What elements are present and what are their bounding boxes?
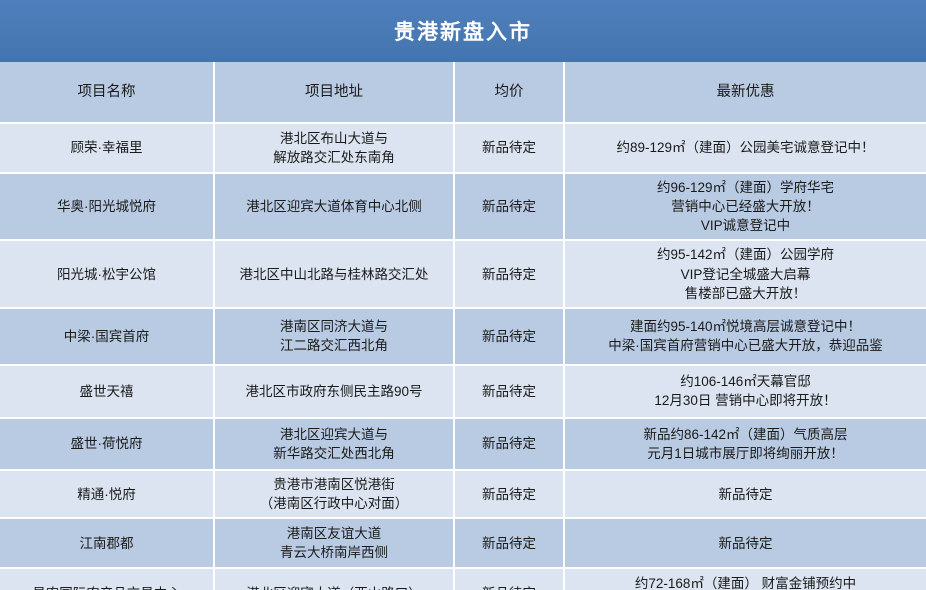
cell-price: 新品待定 <box>455 419 565 471</box>
cell-price: 新品待定 <box>455 241 565 308</box>
page-root: 贵 房 产 网 港 日 www.21998.cn www.21998.cn <box>0 0 926 590</box>
cell-price: 新品待定 <box>455 174 565 241</box>
table-container: 项目名称 项目地址 均价 最新优惠 顾荣·幸福里港北区布山大道与解放路交汇处东南… <box>0 62 926 590</box>
table-row: 华奥·阳光城悦府港北区迎宾大道体育中心北侧新品待定约96-129㎡（建面）学府华… <box>0 174 926 241</box>
cell-promo-line: 新品约86-142㎡（建面）气质高层 <box>571 425 920 444</box>
cell-addr-line: 港北区布山大道与 <box>221 129 447 148</box>
table-row: 中梁·国宾首府港南区同济大道与江二路交汇西北角新品待定建面约95-140㎡悦境高… <box>0 309 926 366</box>
table-header: 项目名称 项目地址 均价 最新优惠 <box>0 62 926 124</box>
cell-promo-line: 售楼部已盛大开放！ <box>571 284 920 303</box>
cell-name: 盛世天禧 <box>0 366 215 419</box>
table-header-row: 项目名称 项目地址 均价 最新优惠 <box>0 62 926 124</box>
cell-price: 新品待定 <box>455 569 565 590</box>
cell-name: 精通·悦府 <box>0 471 215 519</box>
page-title-text: 贵港新盘入市 <box>394 16 532 46</box>
cell-addr-line: 港北区迎宾大道体育中心北侧 <box>221 197 447 216</box>
cell-promo-line: 新品待定 <box>571 534 920 553</box>
cell-price: 新品待定 <box>455 366 565 419</box>
cell-promo-line: 12月30日 营销中心即将开放！ <box>571 391 920 410</box>
table-row: 精通·悦府贵港市港南区悦港街（港南区行政中心对面）新品待定新品待定 <box>0 471 926 519</box>
cell-addr: 港南区同济大道与江二路交汇西北角 <box>215 309 455 366</box>
column-header-name: 项目名称 <box>0 62 215 124</box>
table-row: 盛世·荷悦府港北区迎宾大道与新华路交汇处西北角新品待定新品约86-142㎡（建面… <box>0 419 926 471</box>
cell-addr-line: 港北区迎宾大道与 <box>221 425 447 444</box>
cell-promo-line: 约89-129㎡（建面）公园美宅诚意登记中！ <box>571 138 920 157</box>
cell-promo-line: 元月1日城市展厅即将绚丽开放！ <box>571 444 920 463</box>
cell-name: 阳光城·松宇公馆 <box>0 241 215 308</box>
page-title: 贵港新盘入市 <box>0 0 926 62</box>
column-header-promo: 最新优惠 <box>565 62 926 124</box>
table-row: 易农国际农产品交易中心港北区迎宾大道（西山路口）新品待定约72-168㎡（建面）… <box>0 569 926 590</box>
cell-addr-line: 新华路交汇处西北角 <box>221 444 447 463</box>
table-row: 阳光城·松宇公馆港北区中山北路与桂林路交汇处新品待定约95-142㎡（建面）公园… <box>0 241 926 308</box>
cell-promo: 建面约95-140㎡悦境高层诚意登记中！中梁·国宾首府营销中心已盛大开放，恭迎品… <box>565 309 926 366</box>
cell-promo-line: VIP登记全城盛大启幕 <box>571 265 920 284</box>
column-header-price: 均价 <box>455 62 565 124</box>
cell-addr-line: 青云大桥南岸西侧 <box>221 543 447 562</box>
cell-addr-line: 解放路交汇处东南角 <box>221 148 447 167</box>
cell-addr: 港北区迎宾大道与新华路交汇处西北角 <box>215 419 455 471</box>
cell-price: 新品待定 <box>455 309 565 366</box>
cell-addr: 港北区中山北路与桂林路交汇处 <box>215 241 455 308</box>
cell-addr-line: 港北区迎宾大道（西山路口） <box>221 584 447 590</box>
cell-name: 盛世·荷悦府 <box>0 419 215 471</box>
cell-promo: 新品待定 <box>565 471 926 519</box>
table-row: 顾荣·幸福里港北区布山大道与解放路交汇处东南角新品待定约89-129㎡（建面）公… <box>0 124 926 174</box>
cell-promo-line: 中梁·国宾首府营销中心已盛大开放，恭迎品鉴 <box>571 336 920 355</box>
cell-name: 江南郡都 <box>0 519 215 569</box>
cell-name: 顾荣·幸福里 <box>0 124 215 174</box>
cell-promo-line: 约106-146㎡天幕官邸 <box>571 372 920 391</box>
cell-promo: 约89-129㎡（建面）公园美宅诚意登记中！ <box>565 124 926 174</box>
cell-addr-line: 港北区市政府东侧民主路90号 <box>221 382 447 401</box>
cell-addr: 港南区友谊大道青云大桥南岸西侧 <box>215 519 455 569</box>
cell-addr-line: 港北区中山北路与桂林路交汇处 <box>221 265 447 284</box>
cell-addr: 港北区迎宾大道体育中心北侧 <box>215 174 455 241</box>
cell-name: 易农国际农产品交易中心 <box>0 569 215 590</box>
cell-promo: 约95-142㎡（建面）公园学府VIP登记全城盛大启幕售楼部已盛大开放！ <box>565 241 926 308</box>
cell-promo: 新品待定 <box>565 519 926 569</box>
cell-promo-line: VIP诚意登记中 <box>571 216 920 235</box>
cell-promo-line: 约72-168㎡（建面） 财富金铺预约中 <box>571 574 920 590</box>
cell-promo-line: 营销中心已经盛大开放！ <box>571 197 920 216</box>
cell-promo: 约72-168㎡（建面） 财富金铺预约中营销中心即将盛大开放！ <box>565 569 926 590</box>
cell-addr: 贵港市港南区悦港街（港南区行政中心对面） <box>215 471 455 519</box>
cell-addr-line: 贵港市港南区悦港街 <box>221 475 447 494</box>
cell-price: 新品待定 <box>455 519 565 569</box>
table-body: 顾荣·幸福里港北区布山大道与解放路交汇处东南角新品待定约89-129㎡（建面）公… <box>0 124 926 590</box>
cell-promo-line: 新品待定 <box>571 485 920 504</box>
cell-addr: 港北区迎宾大道（西山路口） <box>215 569 455 590</box>
new-projects-table: 项目名称 项目地址 均价 最新优惠 顾荣·幸福里港北区布山大道与解放路交汇处东南… <box>0 62 926 590</box>
cell-promo: 新品约86-142㎡（建面）气质高层元月1日城市展厅即将绚丽开放！ <box>565 419 926 471</box>
cell-price: 新品待定 <box>455 471 565 519</box>
cell-addr-line: 江二路交汇西北角 <box>221 336 447 355</box>
cell-promo-line: 建面约95-140㎡悦境高层诚意登记中！ <box>571 317 920 336</box>
cell-promo: 约106-146㎡天幕官邸12月30日 营销中心即将开放！ <box>565 366 926 419</box>
cell-addr: 港北区布山大道与解放路交汇处东南角 <box>215 124 455 174</box>
table-row: 江南郡都港南区友谊大道青云大桥南岸西侧新品待定新品待定 <box>0 519 926 569</box>
cell-promo-line: 约96-129㎡（建面）学府华宅 <box>571 178 920 197</box>
cell-price: 新品待定 <box>455 124 565 174</box>
cell-promo-line: 约95-142㎡（建面）公园学府 <box>571 245 920 264</box>
cell-addr-line: （港南区行政中心对面） <box>221 494 447 513</box>
cell-addr: 港北区市政府东侧民主路90号 <box>215 366 455 419</box>
cell-name: 中梁·国宾首府 <box>0 309 215 366</box>
cell-addr-line: 港南区同济大道与 <box>221 317 447 336</box>
table-row: 盛世天禧港北区市政府东侧民主路90号新品待定约106-146㎡天幕官邸12月30… <box>0 366 926 419</box>
cell-addr-line: 港南区友谊大道 <box>221 524 447 543</box>
cell-promo: 约96-129㎡（建面）学府华宅营销中心已经盛大开放！VIP诚意登记中 <box>565 174 926 241</box>
cell-name: 华奥·阳光城悦府 <box>0 174 215 241</box>
column-header-addr: 项目地址 <box>215 62 455 124</box>
